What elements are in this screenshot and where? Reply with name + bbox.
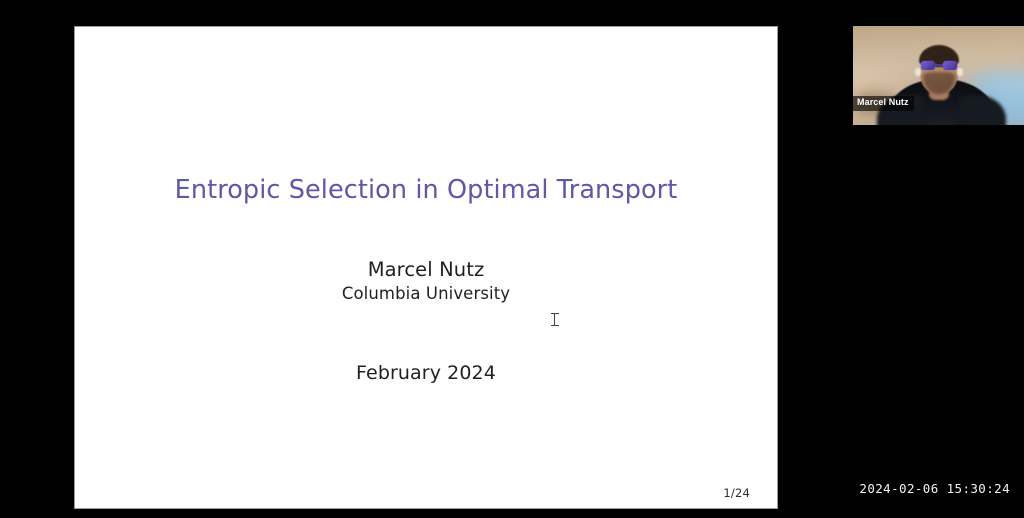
- presentation-playback-screen: Entropic Selection in Optimal Transport …: [0, 0, 1024, 518]
- slide-canvas[interactable]: Entropic Selection in Optimal Transport …: [75, 27, 777, 508]
- webcam-video-tile[interactable]: Marcel Nutz: [853, 26, 1024, 125]
- text-ibeam-cursor-icon: [551, 313, 559, 326]
- glasses-icon: [921, 61, 957, 70]
- webcam-participant-name-badge: Marcel Nutz: [853, 96, 914, 111]
- slide-author-block: Marcel Nutz Columbia University: [75, 259, 777, 306]
- slide-page-number: 1/24: [723, 486, 750, 500]
- slide-date: February 2024: [75, 362, 777, 384]
- slide-author-name: Marcel Nutz: [75, 259, 777, 281]
- slide-affiliation: Columbia University: [75, 281, 777, 307]
- slide-title: Entropic Selection in Optimal Transport: [75, 175, 777, 205]
- recording-timestamp: 2024-02-06 15:30:24: [859, 481, 1010, 496]
